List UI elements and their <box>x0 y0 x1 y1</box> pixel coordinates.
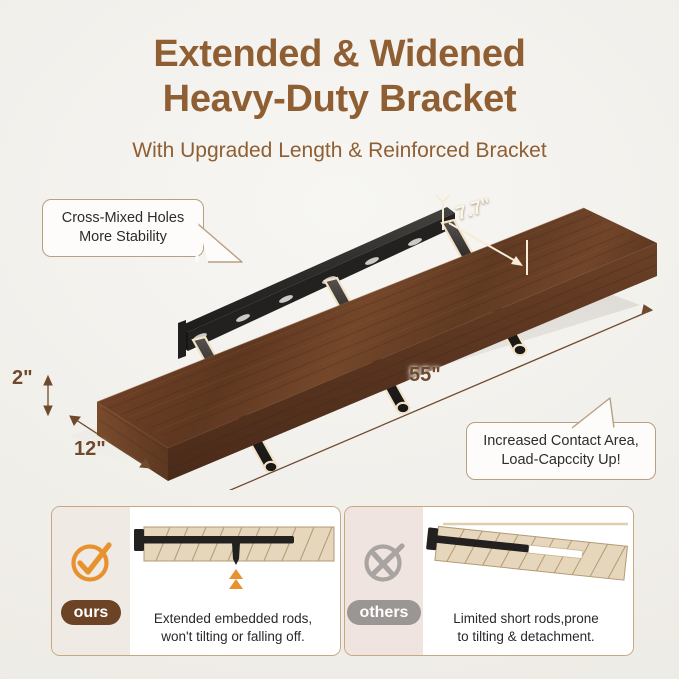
dimension-label-depth: 12" <box>74 438 106 461</box>
diagram-extended-rod <box>130 511 341 597</box>
circle-x-icon <box>359 538 409 588</box>
callout-tail-holes-icon <box>196 222 258 274</box>
headline-line-2: Heavy-Duty Bracket <box>0 77 679 122</box>
dimension-label-length: 55" <box>409 364 441 387</box>
dimension-label-thickness: 2" <box>12 367 33 390</box>
circle-check-icon <box>66 538 116 588</box>
badge-others: others <box>347 600 422 625</box>
callout-increased-contact-area: Increased Contact Area, Load-Capccity Up… <box>466 422 656 480</box>
panel-ours-diagram-column: Extended embedded rods, won't tilting or… <box>130 507 340 655</box>
comparison-panel-ours: ours <box>51 506 341 656</box>
dimension-line-thickness <box>44 376 52 415</box>
caption-others: Limited short rods,prone to tilting & de… <box>423 610 629 646</box>
panel-ours-badge-column: ours <box>52 507 130 655</box>
callout-tail-load-icon <box>566 396 628 430</box>
diagram-short-rod-tilting <box>423 511 634 597</box>
infographic-canvas: Extended & Widened Heavy-Duty Bracket Wi… <box>0 0 679 679</box>
comparison-panel-others: others <box>344 506 634 656</box>
headline-subtitle: With Upgraded Length & Reinforced Bracke… <box>0 138 679 164</box>
caption-ours: Extended embedded rods, won't tilting or… <box>130 610 336 646</box>
callout-cross-mixed-holes: Cross-Mixed Holes More Stability <box>42 199 204 257</box>
headline-line-1: Extended & Widened <box>0 32 679 77</box>
badge-ours: ours <box>61 600 122 625</box>
page-title: Extended & Widened Heavy-Duty Bracket Wi… <box>0 32 679 164</box>
panel-others-diagram-column: Limited short rods,prone to tilting & de… <box>423 507 633 655</box>
panel-others-badge-column: others <box>345 507 423 655</box>
